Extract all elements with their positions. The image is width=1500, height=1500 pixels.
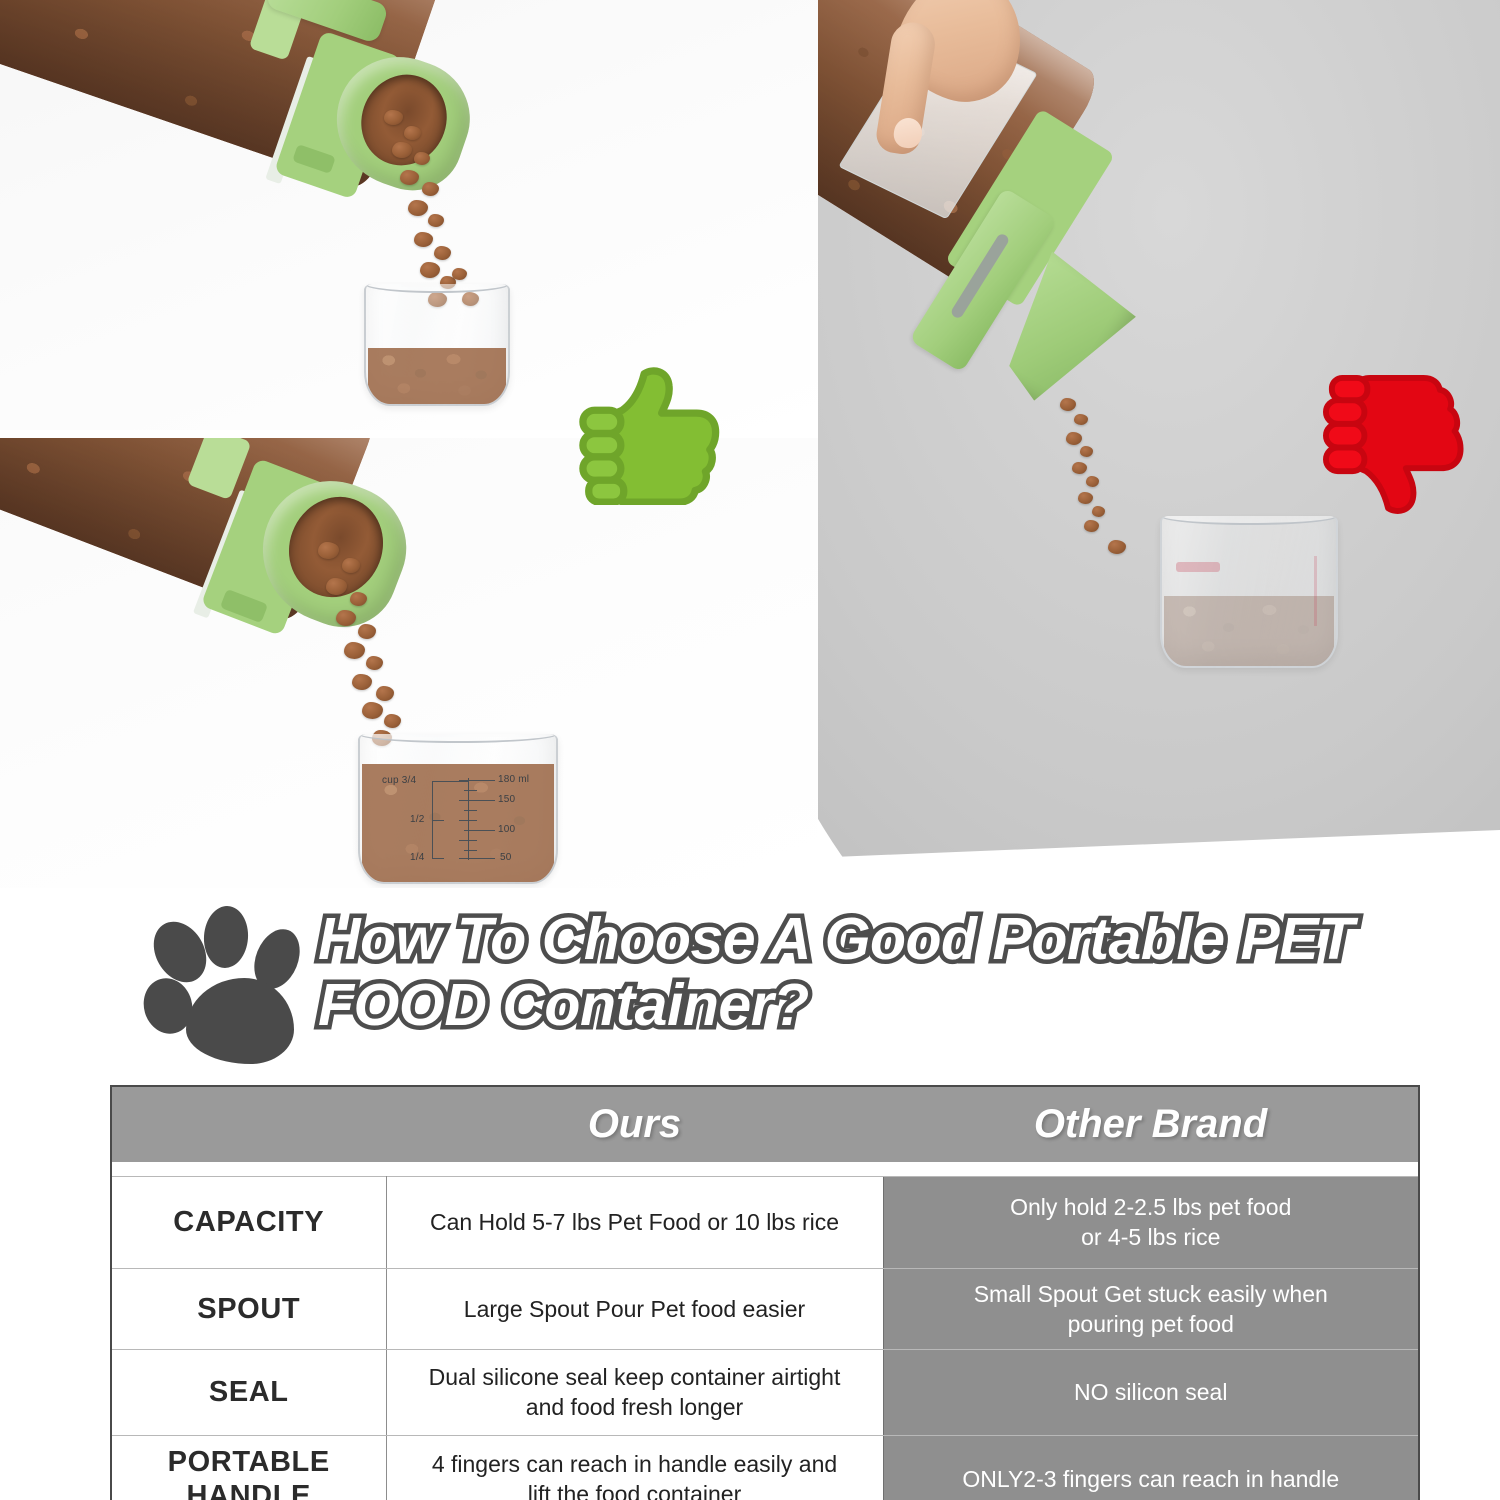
- ours-capacity: Can Hold 5-7 lbs Pet Food or 10 lbs rice: [386, 1176, 883, 1268]
- photo-ours-large-spout: cup 3/4 1/2 1/4 180 ml 150 100 50: [0, 438, 818, 888]
- infographic-page: cup 3/4 1/2 1/4 180 ml 150 100 50: [0, 0, 1500, 1500]
- table-row: SPOUT Large Spout Pour Pet food easier S…: [111, 1268, 1419, 1349]
- scale-label-100: 100: [498, 824, 515, 835]
- page-title: How To Choose A Good Portable PET FOOD C…: [318, 906, 1438, 1038]
- page-title-line1: How To Choose A Good Portable PET: [318, 906, 1438, 972]
- other-measuring-cup: [1160, 516, 1338, 668]
- measuring-cup-top: [364, 284, 510, 406]
- scale-label-1-4: 1/4: [410, 852, 425, 863]
- ours-portable-handle: 4 fingers can reach in handle easily and…: [386, 1435, 883, 1500]
- header-spacer: [111, 1162, 1419, 1176]
- feature-seal: SEAL: [111, 1349, 386, 1435]
- table-row: SEAL Dual silicone seal keep container a…: [111, 1349, 1419, 1435]
- other-seal: NO silicon seal: [883, 1349, 1419, 1435]
- thumbs-up-icon: [575, 365, 725, 505]
- table-header-row: Ours Other Brand: [111, 1086, 1419, 1162]
- other-capacity: Only hold 2-2.5 lbs pet foodor 4-5 lbs r…: [883, 1176, 1419, 1268]
- table-row: PORTABLEHANDLE 4 fingers can reach in ha…: [111, 1435, 1419, 1500]
- scale-label-cup-3-4: cup 3/4: [382, 775, 416, 786]
- header-other-brand: Other Brand: [883, 1086, 1419, 1162]
- feature-portable-handle: PORTABLEHANDLE: [111, 1435, 386, 1500]
- product-photo-section: cup 3/4 1/2 1/4 180 ml 150 100 50: [0, 0, 1500, 888]
- other-spout: Small Spout Get stuck easily whenpouring…: [883, 1268, 1419, 1349]
- feature-capacity: CAPACITY: [111, 1176, 386, 1268]
- ours-spout: Large Spout Pour Pet food easier: [386, 1268, 883, 1349]
- header-blank: [111, 1086, 386, 1162]
- scale-label-50: 50: [500, 852, 512, 863]
- feature-spout: SPOUT: [111, 1268, 386, 1349]
- thumbs-down-icon: [1318, 375, 1470, 517]
- scale-label-150: 150: [498, 794, 515, 805]
- scale-label-1-2: 1/2: [410, 814, 425, 825]
- table-row: CAPACITY Can Hold 5-7 lbs Pet Food or 10…: [111, 1176, 1419, 1268]
- scale-label-180ml: 180 ml: [498, 774, 529, 785]
- comparison-table: Ours Other Brand CAPACITY Can Hold 5-7 l…: [110, 1085, 1420, 1500]
- header-ours: Ours: [386, 1086, 883, 1162]
- other-portable-handle: ONLY2-3 fingers can reach in handle: [883, 1435, 1419, 1500]
- measuring-cup-bottom: cup 3/4 1/2 1/4 180 ml 150 100 50: [358, 734, 558, 884]
- page-title-line2: FOOD Container?: [318, 972, 1438, 1038]
- ours-seal: Dual silicone seal keep container airtig…: [386, 1349, 883, 1435]
- paw-print-icon: [148, 906, 326, 1064]
